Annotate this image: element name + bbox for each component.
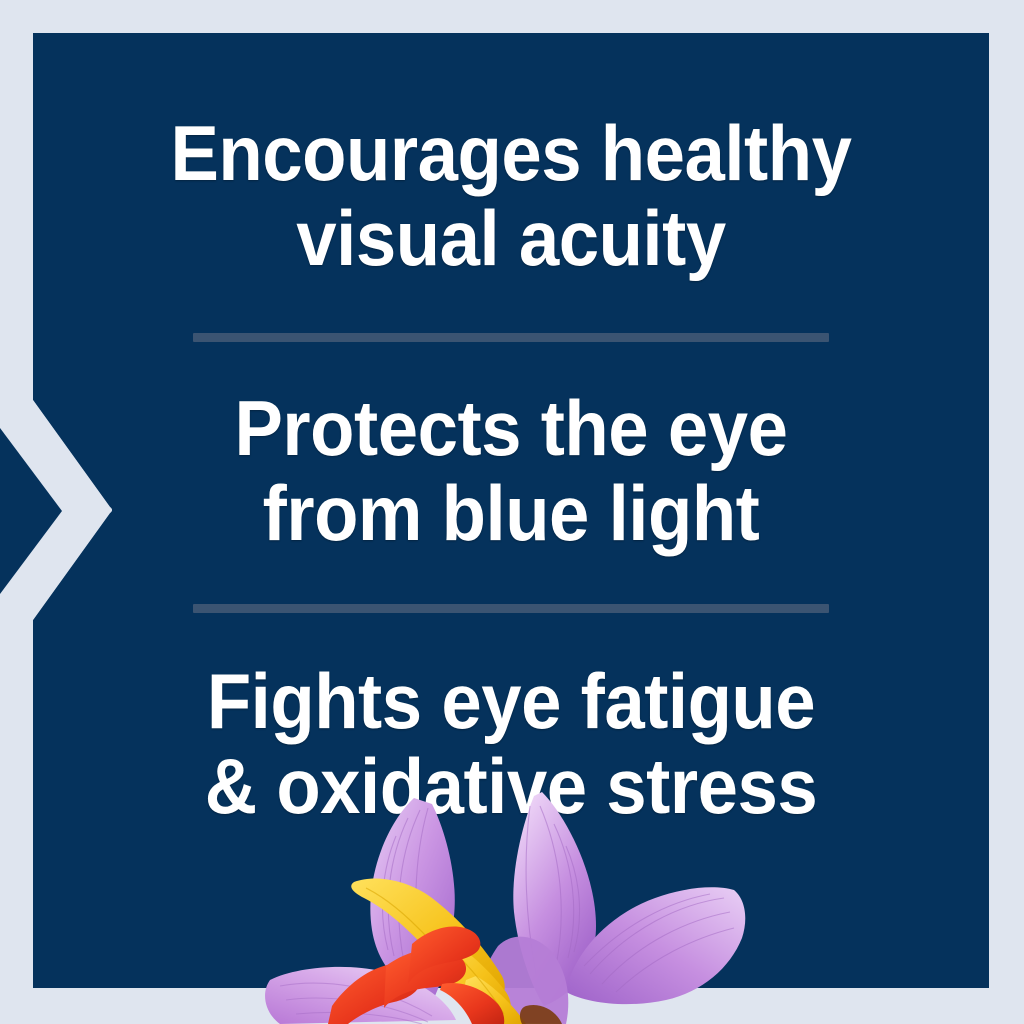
benefit-card-stage: Encourages healthy visual acuity Protect… — [0, 0, 1024, 1024]
navy-benefit-panel — [33, 33, 989, 988]
